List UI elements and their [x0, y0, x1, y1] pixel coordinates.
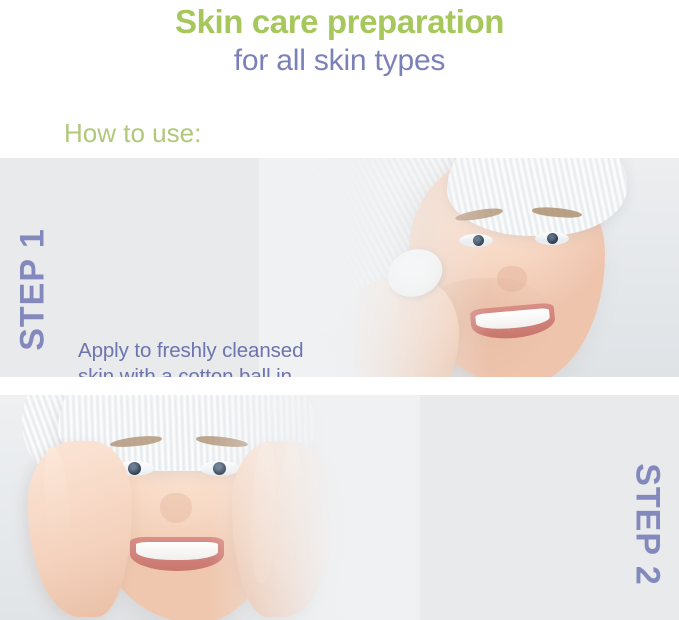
step-2-label: STEP 2 [628, 425, 667, 620]
nose-shape [160, 493, 192, 523]
step-1-description: Apply to freshly cleansed skin with a co… [78, 338, 308, 377]
step-1-panel: Apply to freshly cleansed skin with a co… [0, 158, 679, 377]
page-subtitle: for all skin types [0, 44, 679, 78]
step-2-panel: Allow the product to dry without the nee… [0, 395, 679, 620]
photo-right-fade [210, 395, 420, 620]
how-to-use-heading: How to use: [64, 118, 201, 149]
header: Skin care preparation for all skin types… [0, 0, 679, 158]
eye-right [535, 232, 569, 245]
teeth [136, 542, 218, 560]
step-2-photo [0, 395, 420, 620]
infographic-page: Skin care preparation for all skin types… [0, 0, 679, 620]
nose-shape [497, 266, 527, 292]
page-title: Skin care preparation [0, 3, 679, 41]
step-1-label: STEP 1 [14, 190, 53, 390]
step-1-photo [259, 158, 679, 377]
